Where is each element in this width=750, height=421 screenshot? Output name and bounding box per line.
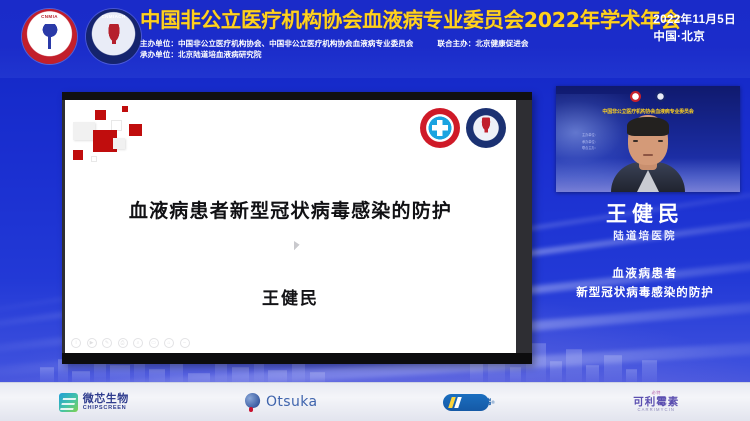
- speaker-topic-line2: 新型冠状病毒感染的防护: [540, 283, 750, 302]
- host-value: 北京陆道培血液病研究院: [178, 50, 262, 59]
- sponsor-slot-carrimycin[interactable]: 必特 可利霉素 CARRIMYCIN: [563, 391, 750, 413]
- sponsor-slot-otsuka[interactable]: Otsuka: [188, 393, 376, 412]
- cnmia-emblem-icon: CNMIA: [22, 9, 77, 64]
- play-icon[interactable]: ▶: [87, 338, 97, 348]
- slide-author: 王健民: [65, 284, 516, 309]
- cart-icon[interactable]: ⌂: [164, 338, 174, 348]
- slide-frame-top-bar: [62, 92, 532, 100]
- header-date-block: 2022年11月5日 中国·北京: [653, 12, 736, 47]
- speaker-eye-left: [633, 140, 638, 142]
- cnmia-emblem-label: CNMIA: [25, 12, 74, 61]
- speaker-topic: 血液病患者 新型冠状病毒感染的防护: [540, 264, 750, 302]
- chipscreen-logo[interactable]: 微芯生物 CHIPSCREEN: [59, 393, 129, 412]
- hengrui-trademark-symbol: ®: [491, 400, 494, 405]
- header-subtitle-block: 主办单位：中国非公立医疗机构协会、中国非公立医疗机构协会血液病专业委员会联合主办…: [140, 38, 681, 61]
- organizer-row: 主办单位：中国非公立医疗机构协会、中国非公立医疗机构协会血液病专业委员会联合主办…: [140, 38, 681, 49]
- conference-location: 中国·北京: [653, 29, 736, 46]
- speaker-hair: [627, 117, 669, 136]
- institute-seal-logo-icon: [466, 108, 506, 148]
- otsuka-name-en: Otsuka: [266, 394, 318, 410]
- carrimycin-name-en: CARRIMYCIN: [633, 408, 679, 413]
- slide-logo-group: [420, 108, 506, 148]
- print-icon[interactable]: ⎙: [118, 338, 128, 348]
- speaker-panel: 中国非公立医疗机构协会血液病专业委员会 2022 主办单位：承办单位：联合主办：…: [540, 78, 750, 375]
- chipscreen-name-cn: 微芯生物: [83, 393, 129, 405]
- speaker-organization: 陆道培医院: [540, 228, 750, 243]
- organizer-value: 中国非公立医疗机构协会、中国非公立医疗机构协会血液病专业委员会: [178, 39, 413, 48]
- video-banner-red-emblem-icon: [630, 91, 641, 102]
- speaker-video-tile[interactable]: 中国非公立医疗机构协会血液病专业委员会 2022 主办单位：承办单位：联合主办：: [556, 86, 740, 192]
- slide-toolbar[interactable]: i ▶ ✎ ⎙ ⌕ ▭ ⌂ –: [71, 338, 190, 348]
- co-organizer-value: 北京健康促进会: [475, 39, 528, 48]
- host-label: 承办单位：: [140, 50, 178, 59]
- speaker-portrait: [611, 110, 685, 192]
- otsuka-logo[interactable]: Otsuka: [245, 393, 318, 412]
- otsuka-drop-icon: [245, 393, 262, 412]
- co-organizer-label: 联合主办：: [437, 39, 475, 48]
- sponsor-slot-hengrui[interactable]: 恒瑞 ®: [375, 394, 563, 411]
- slide-square-decoration: [73, 106, 188, 168]
- slide-frame-bottom-bar: [62, 353, 532, 364]
- video-banner-logos: [630, 91, 666, 102]
- speaker-eye-right: [658, 140, 663, 142]
- sponsor-slot-chipscreen[interactable]: 微芯生物 CHIPSCREEN: [0, 393, 188, 412]
- host-row: 承办单位：北京陆道培血液病研究院: [140, 49, 681, 60]
- speaker-name: 王健民: [540, 198, 750, 228]
- presentation-slide[interactable]: 血液病患者新型冠状病毒感染的防护 王健民 i ▶ ✎ ⎙ ⌕ ▭ ⌂ –: [65, 100, 516, 353]
- chipscreen-mark-icon: [59, 393, 78, 412]
- conference-header-banner: CNMIA CNMIACH 中国非公立医疗机构协会血液病专业委员会2022年学术…: [0, 0, 750, 78]
- organizer-label: 主办单位：: [140, 39, 178, 48]
- conference-title: 中国非公立医疗机构协会血液病专业委员会2022年学术年会: [140, 10, 681, 31]
- pen-icon[interactable]: ✎: [102, 338, 112, 348]
- cnmiach-emblem-icon: CNMIACH: [86, 9, 141, 64]
- video-banner-blue-emblem-icon: [655, 91, 666, 102]
- chipscreen-name-en: CHIPSCREEN: [83, 405, 129, 411]
- hengrui-logo[interactable]: 恒瑞 ®: [443, 394, 495, 411]
- zoom-icon[interactable]: ⌕: [133, 338, 143, 348]
- minus-icon[interactable]: –: [180, 338, 190, 348]
- conference-date: 2022年11月5日: [653, 12, 736, 29]
- sponsor-bar: 微芯生物 CHIPSCREEN Otsuka 恒瑞 ® 必特: [0, 382, 750, 421]
- screen-share-frame[interactable]: 血液病患者新型冠状病毒感染的防护 王健民 i ▶ ✎ ⎙ ⌕ ▭ ⌂ –: [62, 92, 532, 364]
- comment-icon[interactable]: ▭: [149, 338, 159, 348]
- speaker-topic-line1: 血液病患者: [540, 264, 750, 283]
- hospital-cross-logo-icon: [420, 108, 460, 148]
- hengrui-oval-icon: [443, 394, 489, 411]
- info-icon[interactable]: i: [71, 338, 81, 348]
- cnmiach-emblem-label: CNMIACH: [89, 12, 138, 61]
- header-text-block: 中国非公立医疗机构协会血液病专业委员会2022年学术年会 主办单位：中国非公立医…: [140, 10, 681, 60]
- video-banner-lines: 主办单位：承办单位：联合主办：: [582, 132, 598, 152]
- mouse-cursor-icon: [294, 241, 301, 251]
- livestream-screen: CNMIA CNMIACH 中国非公立医疗机构协会血液病专业委员会2022年学术…: [0, 0, 750, 421]
- carrimycin-logo[interactable]: 必特 可利霉素 CARRIMYCIN: [633, 391, 679, 413]
- slide-title: 血液病患者新型冠状病毒感染的防护: [65, 196, 516, 223]
- header-emblems: CNMIA CNMIACH: [22, 9, 141, 64]
